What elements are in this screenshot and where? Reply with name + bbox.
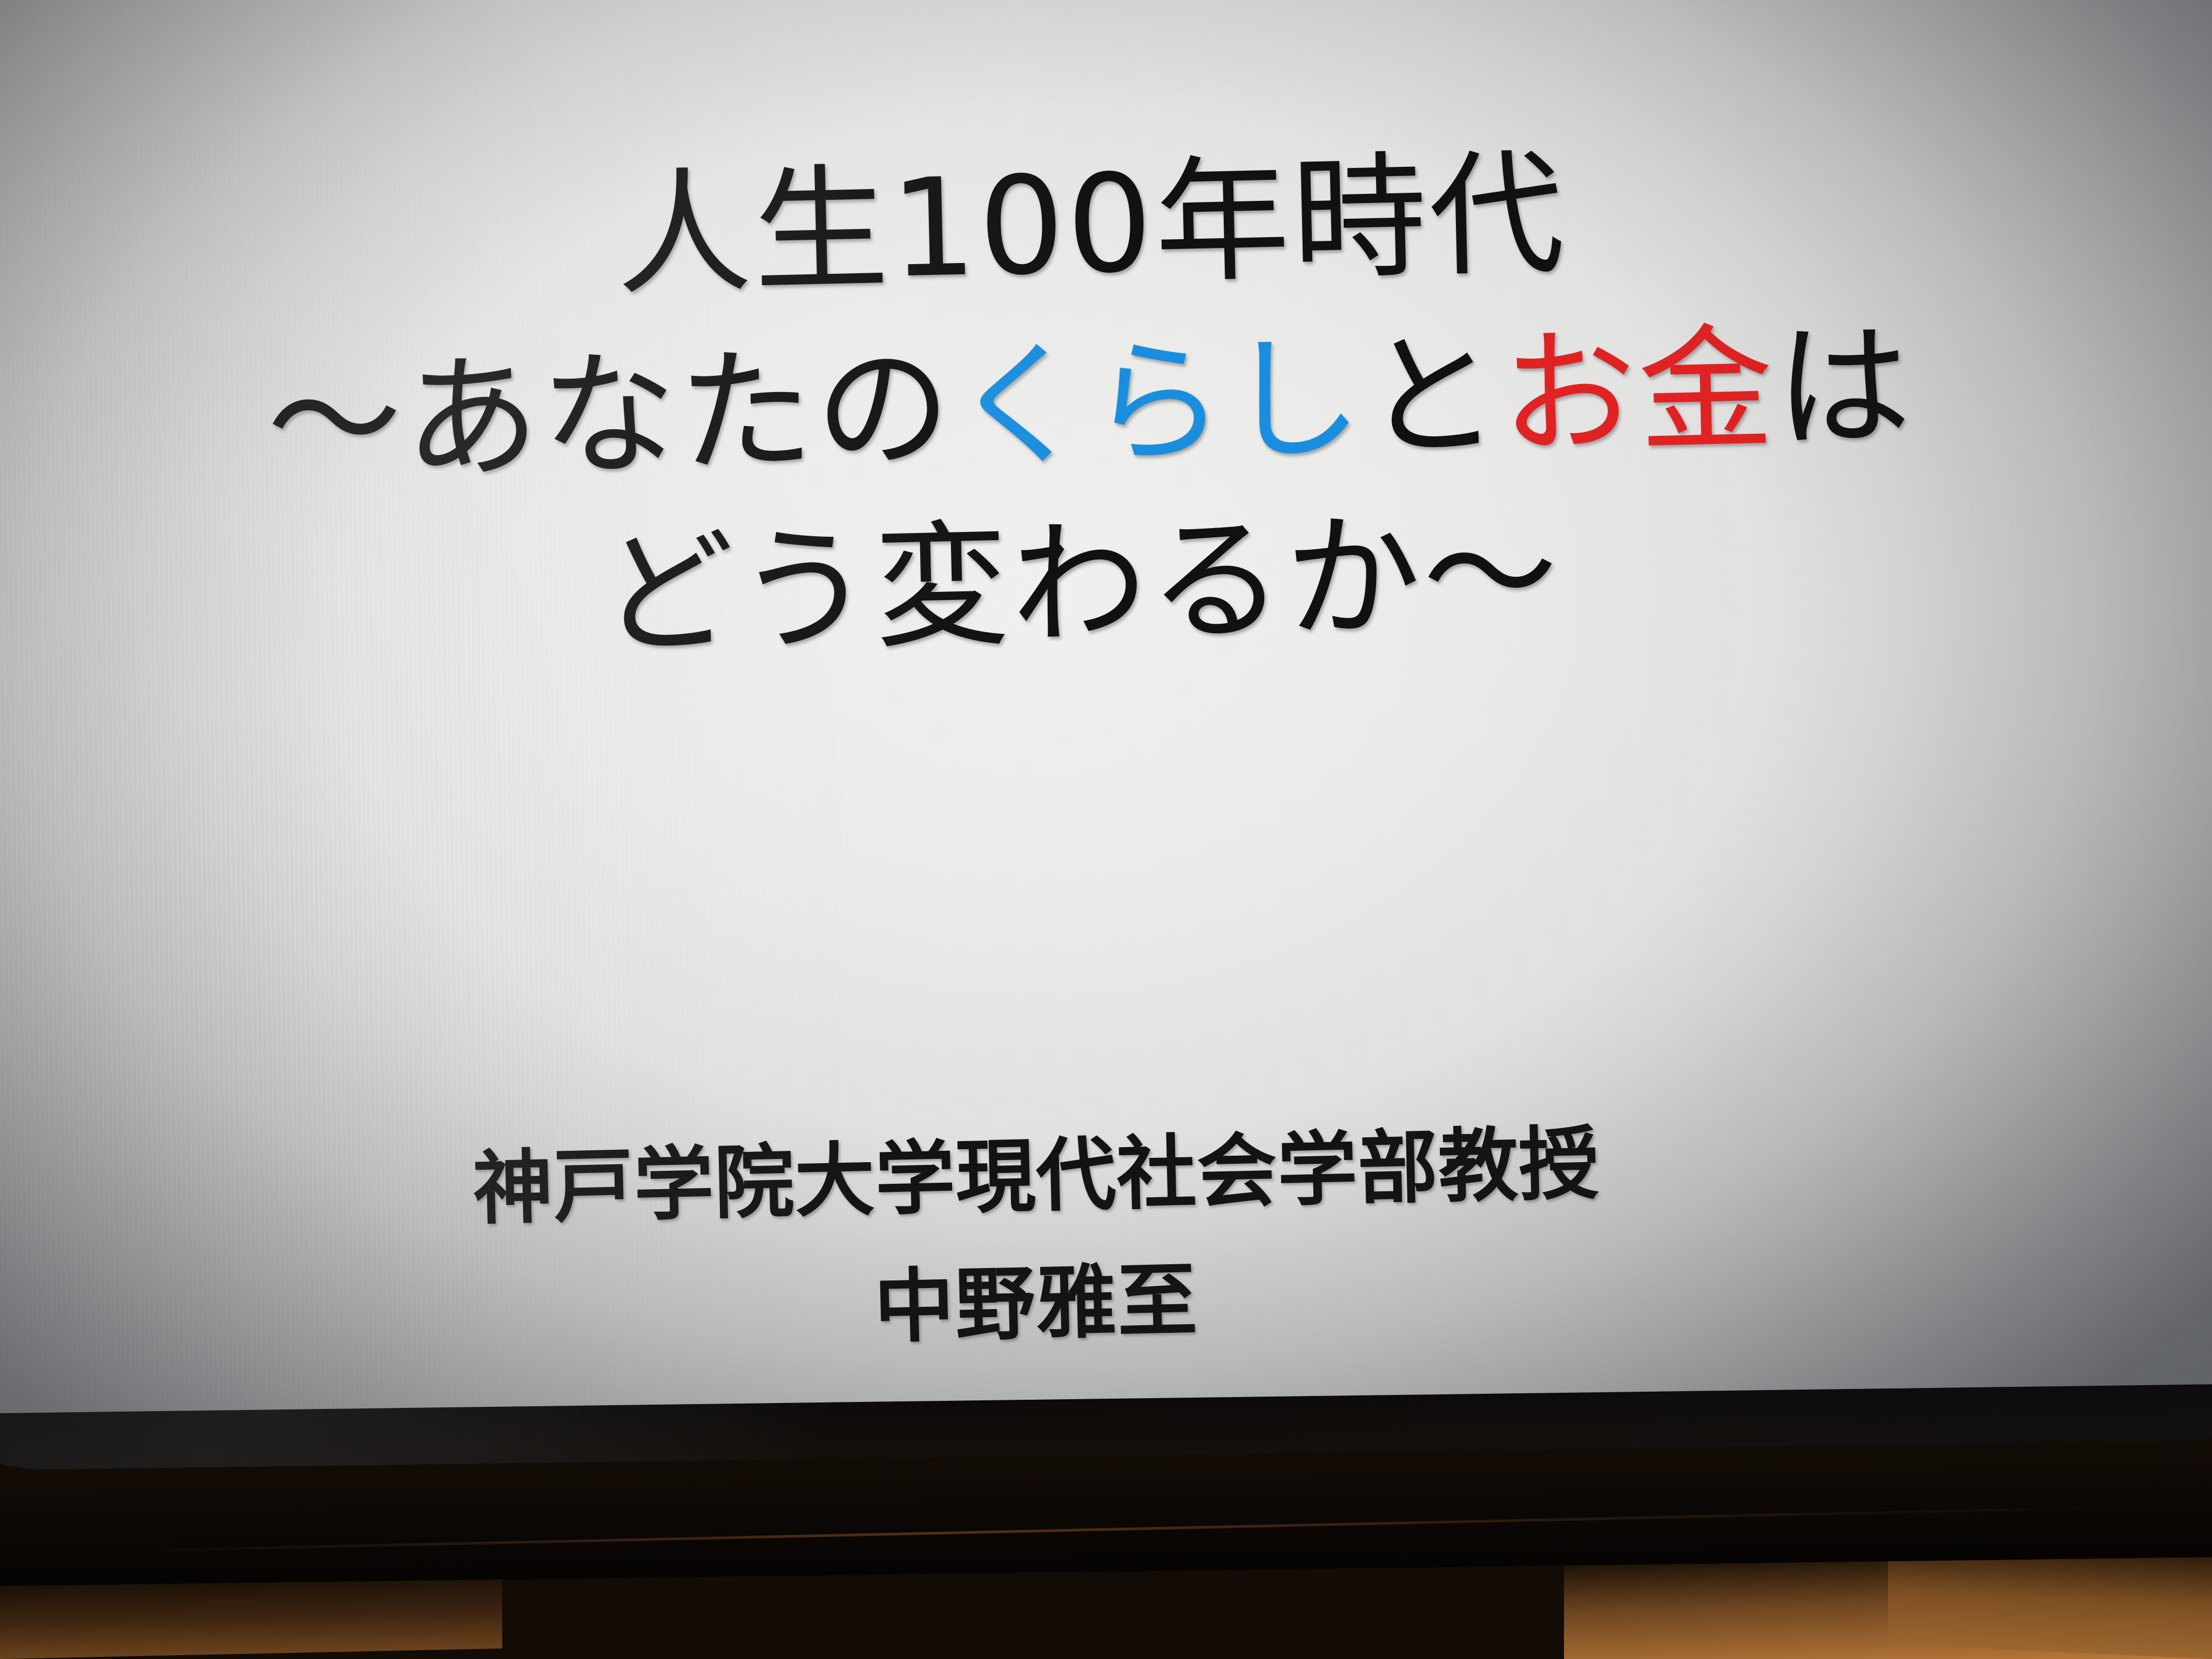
title-line-3-text: どう変わるか〜 <box>598 495 1561 673</box>
title-line-2-segment-okane: お金 <box>1500 310 1777 473</box>
presenter-block: 神戸学院大学現代社会学部教授 中野雅至 <box>0 1092 2212 1384</box>
title-line-2-segment-kurashi: くらし <box>951 319 1366 485</box>
display-monitor: 人生100年時代 〜あなたのくらしとお金は どう変わるか〜 神戸学院大学現代社会… <box>0 0 2212 1586</box>
title-line-2-segment-to: と <box>1363 316 1503 477</box>
title-line-2-segment-wa: は <box>1773 307 1914 467</box>
title-line-1-text: 人生100年時代 <box>615 135 1568 314</box>
slide-canvas: 人生100年時代 〜あなたのくらしとお金は どう変わるか〜 神戸学院大学現代社会… <box>0 0 2212 1470</box>
screen-panel: 人生100年時代 〜あなたのくらしとお金は どう変わるか〜 神戸学院大学現代社会… <box>0 0 2212 1470</box>
title-line-2-segment-1: 〜あなたの <box>265 329 954 502</box>
slide-title: 人生100年時代 〜あなたのくらしとお金は どう変わるか〜 <box>0 110 2212 699</box>
bezel-sheen <box>122 1505 2151 1552</box>
photo-of-presentation-screen: 人生100年時代 〜あなたのくらしとお金は どう変わるか〜 神戸学院大学現代社会… <box>0 0 2212 1659</box>
